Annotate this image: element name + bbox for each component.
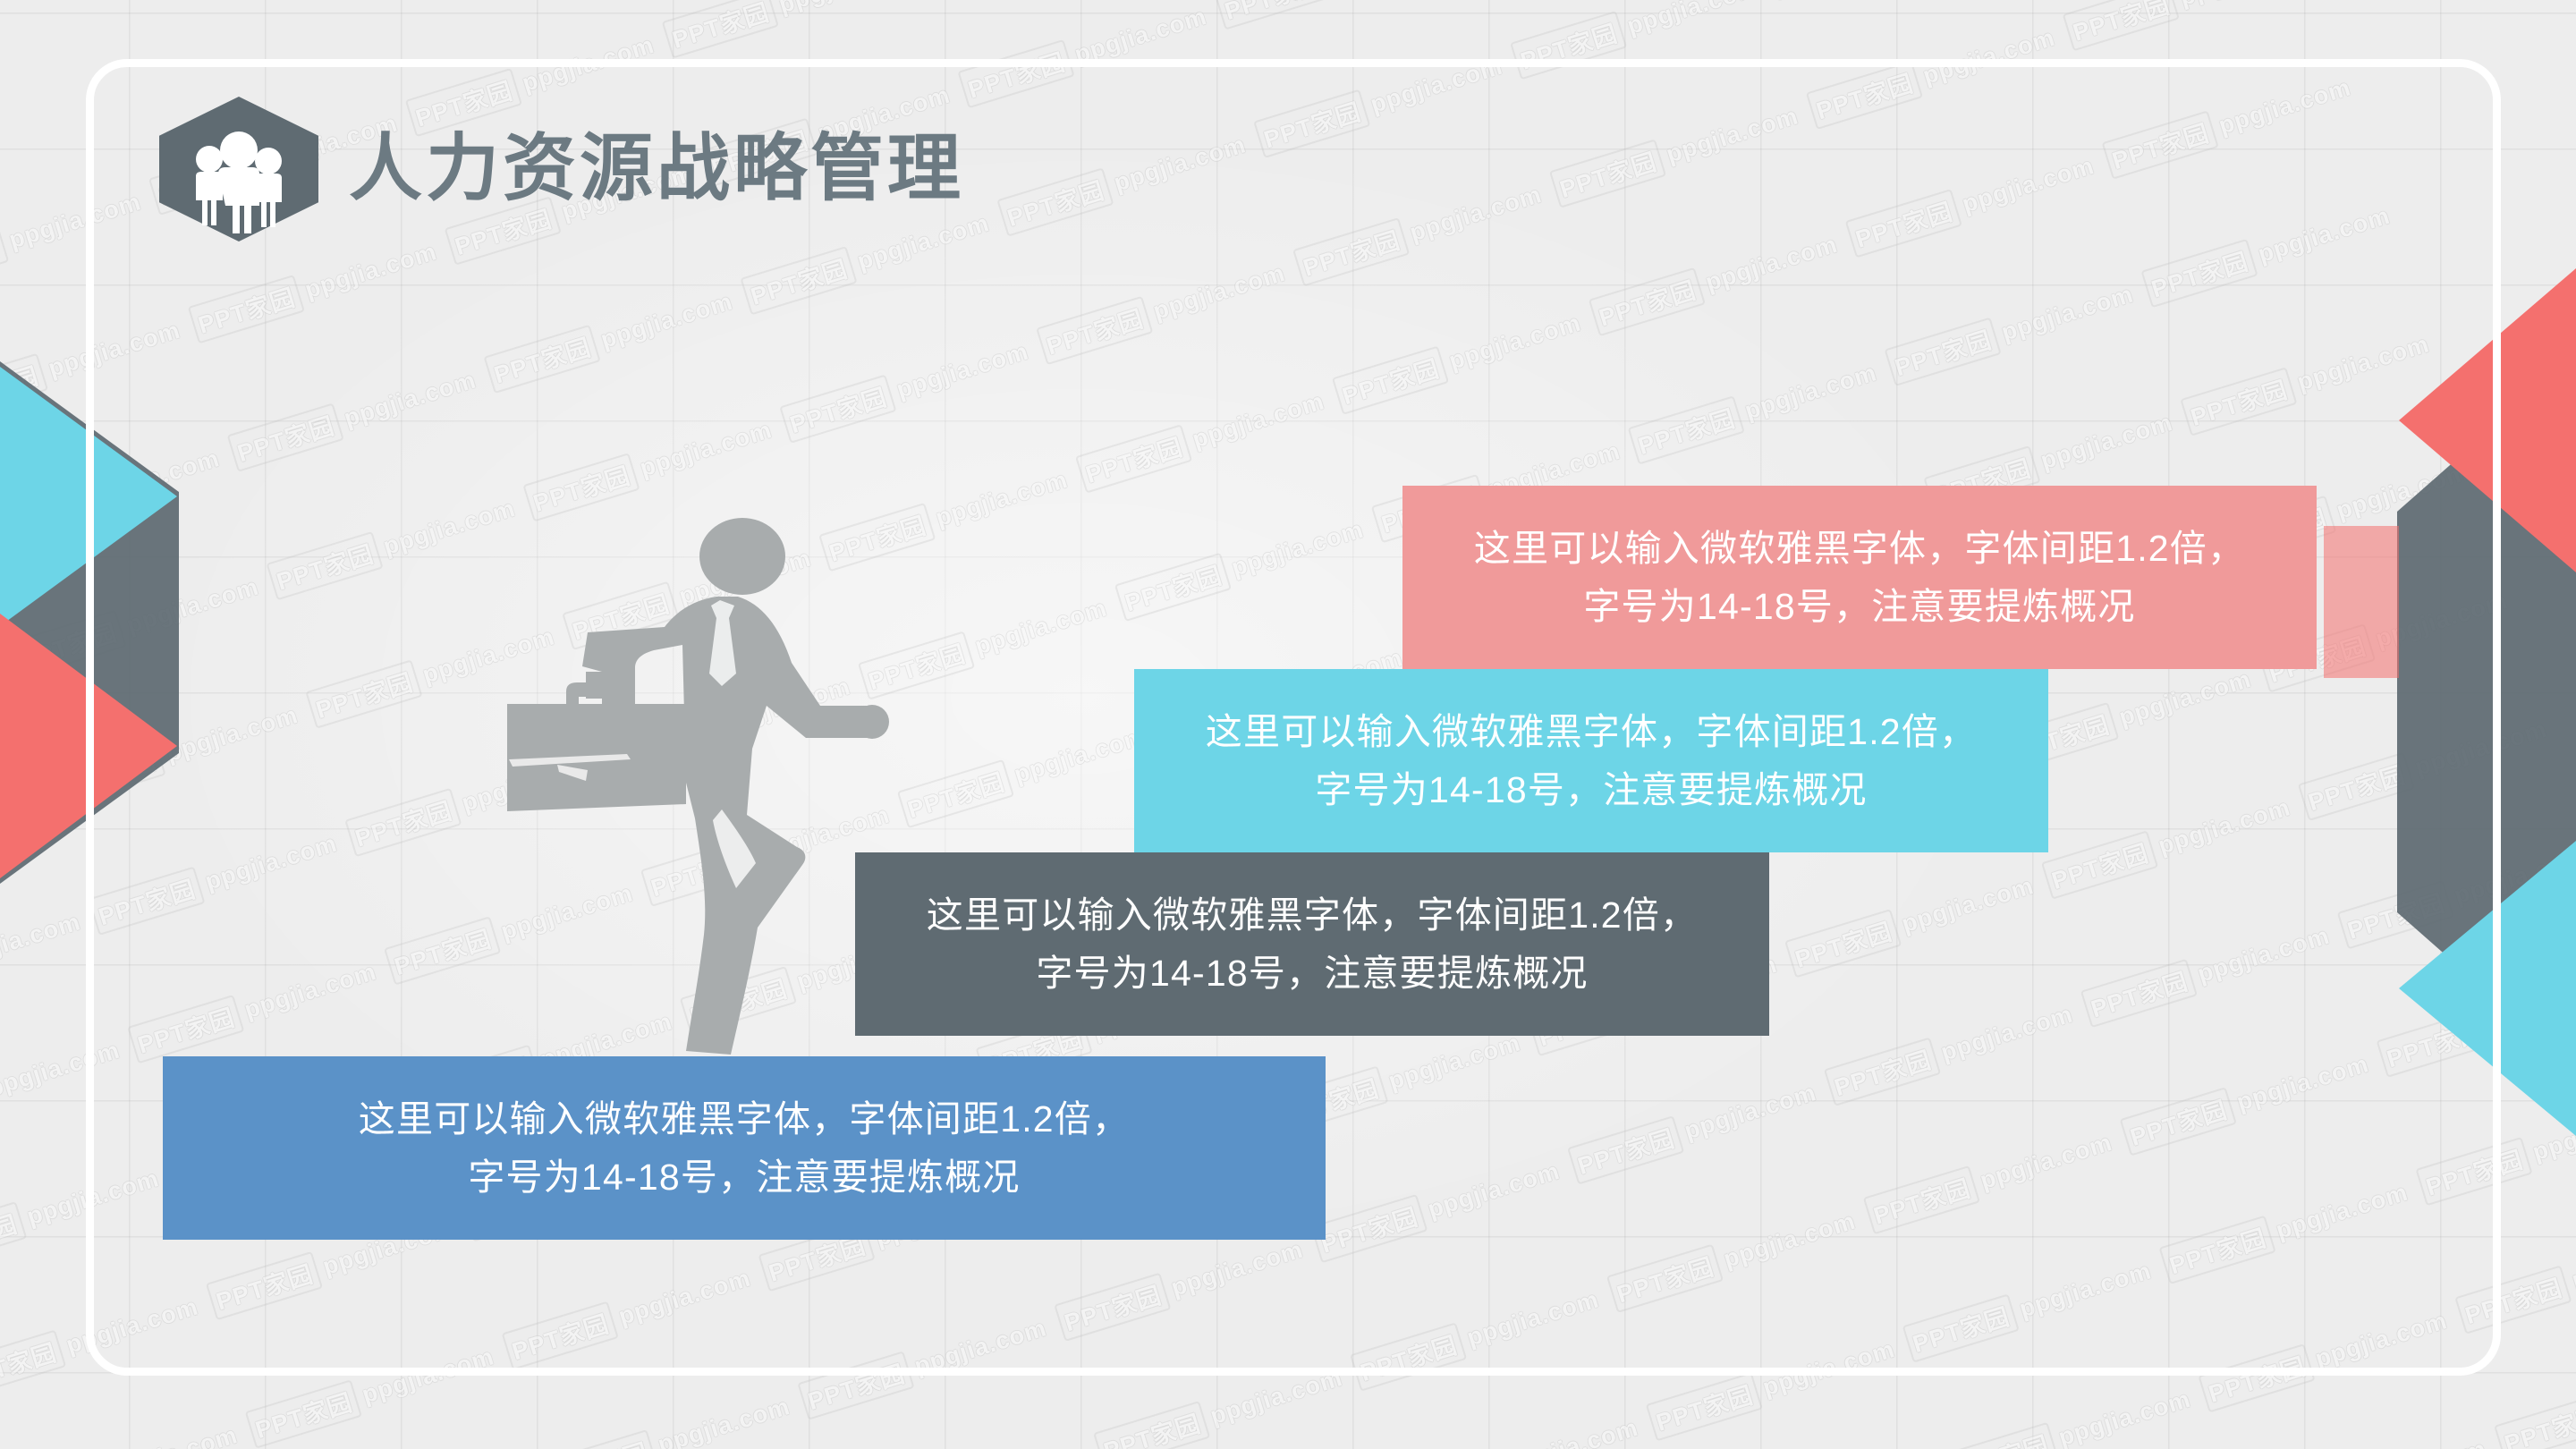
content-bar-cyan[interactable]: 这里可以输入微软雅黑字体，字体间距1.2倍， 字号为14-18号，注意要提炼概况 [1134, 669, 2048, 852]
content-bar-pink-line1: 这里可以输入微软雅黑字体，字体间距1.2倍， [1474, 520, 2245, 578]
content-bar-pink-line2: 字号为14-18号，注意要提炼概况 [1583, 578, 2135, 636]
page-title: 人力资源战略管理 [349, 132, 964, 206]
content-bar-blue-line2: 字号为14-18号，注意要提炼概况 [468, 1148, 1020, 1207]
content-bar-blue-line1: 这里可以输入微软雅黑字体，字体间距1.2倍， [359, 1090, 1130, 1148]
content-bar-cyan-line2: 字号为14-18号，注意要提炼概况 [1315, 761, 1867, 819]
hexagon-badge [159, 97, 318, 241]
slide-header: 人力资源战略管理 [159, 97, 964, 241]
content-bar-blue[interactable]: 这里可以输入微软雅黑字体，字体间距1.2倍， 字号为14-18号，注意要提炼概况 [163, 1056, 1326, 1240]
deco-right-rectangle-red-small [2324, 526, 2399, 678]
content-bar-cyan-line1: 这里可以输入微软雅黑字体，字体间距1.2倍， [1206, 703, 1977, 761]
content-bar-gray[interactable]: 这里可以输入微软雅黑字体，字体间距1.2倍， 字号为14-18号，注意要提炼概况 [855, 852, 1769, 1036]
content-bar-pink[interactable]: 这里可以输入微软雅黑字体，字体间距1.2倍， 字号为14-18号，注意要提炼概况 [1402, 486, 2317, 669]
content-bar-gray-line2: 字号为14-18号，注意要提炼概况 [1036, 945, 1588, 1003]
presentation-slide: PPT家园ppgjia.comPPT家园ppgjia.comPPT家园ppgji… [0, 0, 2576, 1449]
content-bar-gray-line1: 这里可以输入微软雅黑字体，字体间距1.2倍， [927, 886, 1698, 945]
group-people-icon [159, 97, 318, 241]
